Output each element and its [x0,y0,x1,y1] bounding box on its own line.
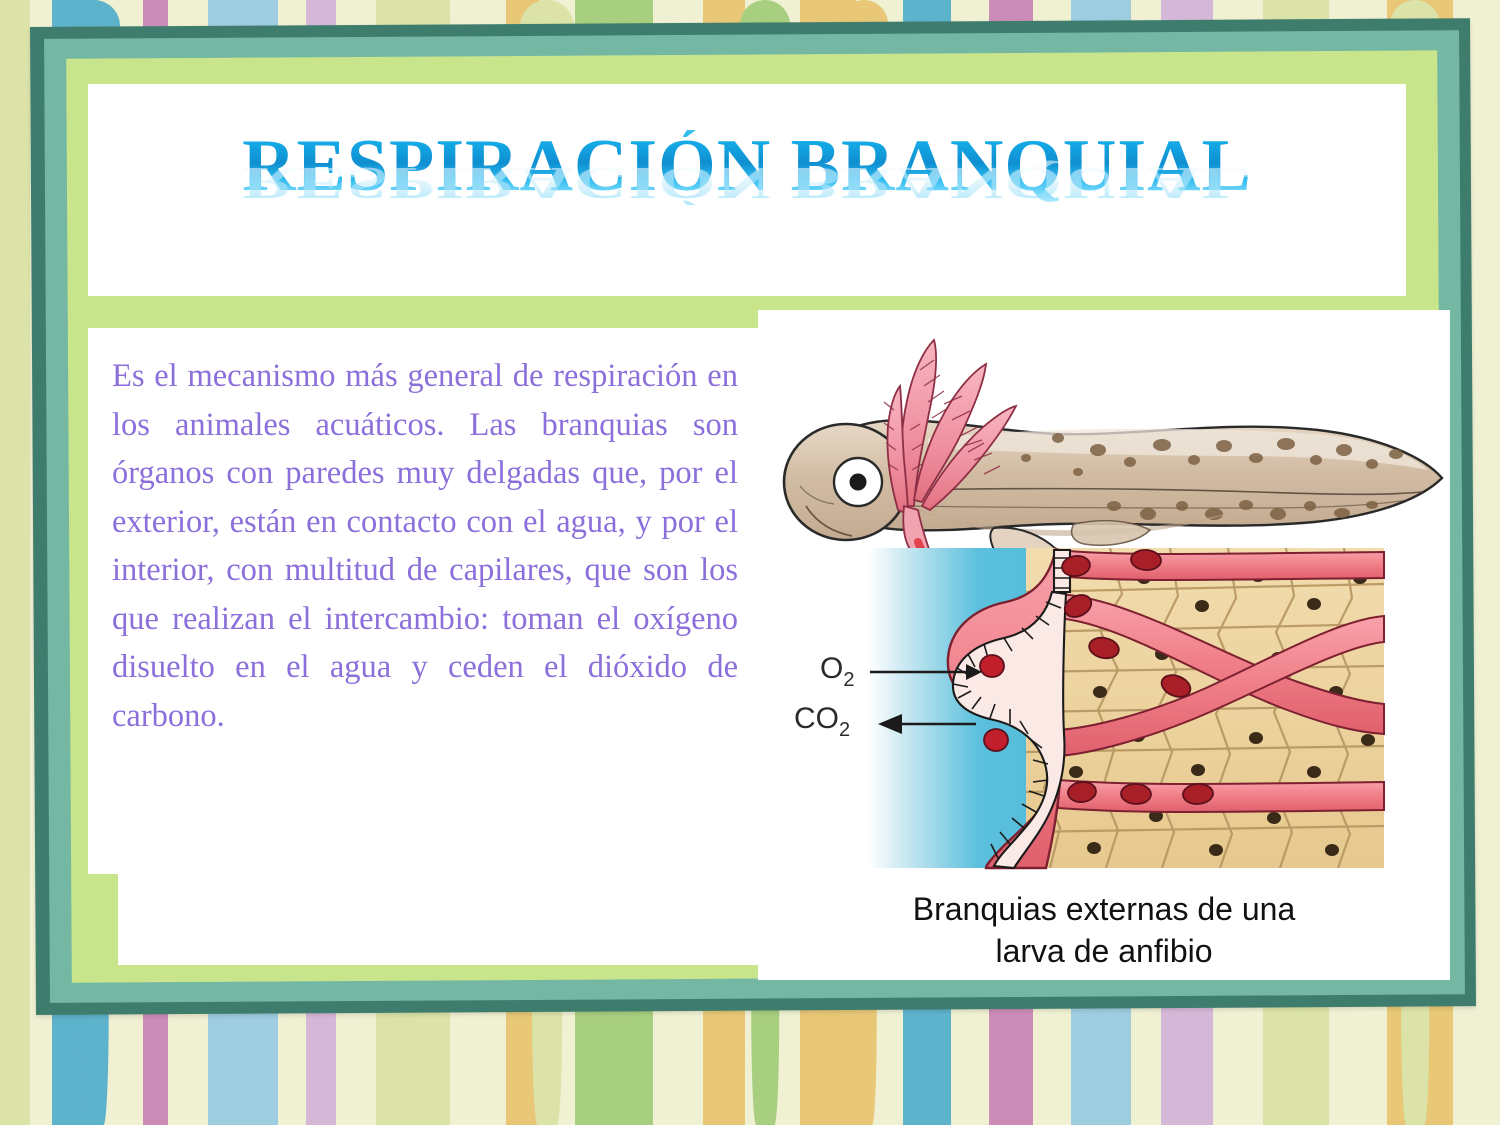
page-title-reflection: RESPIRACIÓN BRANQUIAL [242,160,1252,205]
wallpaper-stripe [0,0,30,1125]
illustration-panel: O2 CO2 Branquias externas de una larva d… [758,310,1450,980]
image-caption: Branquias externas de una larva de anfib… [768,888,1440,972]
amphibian-larva-drawing [784,340,1442,582]
o2-label: O2 [820,652,854,691]
caption-line-2: larva de anfibio [995,933,1212,969]
body-paragraph: Es el mecanismo más general de respiraci… [112,352,738,740]
co2-label: CO2 [794,702,850,741]
gill-cross-section-diagram: O2 CO2 [794,548,1384,868]
body-text-panel: Es el mecanismo más general de respiraci… [88,328,760,874]
title-wrap: RESPIRACIÓN BRANQUIAL RESPIRACIÓN BRANQU… [88,130,1406,277]
larva-eye [834,458,882,506]
title-panel: RESPIRACIÓN BRANQUIAL RESPIRACIÓN BRANQU… [88,84,1406,296]
gill-respiration-illustration: O2 CO2 [758,310,1450,888]
caption-line-1: Branquias externas de una [913,891,1295,927]
